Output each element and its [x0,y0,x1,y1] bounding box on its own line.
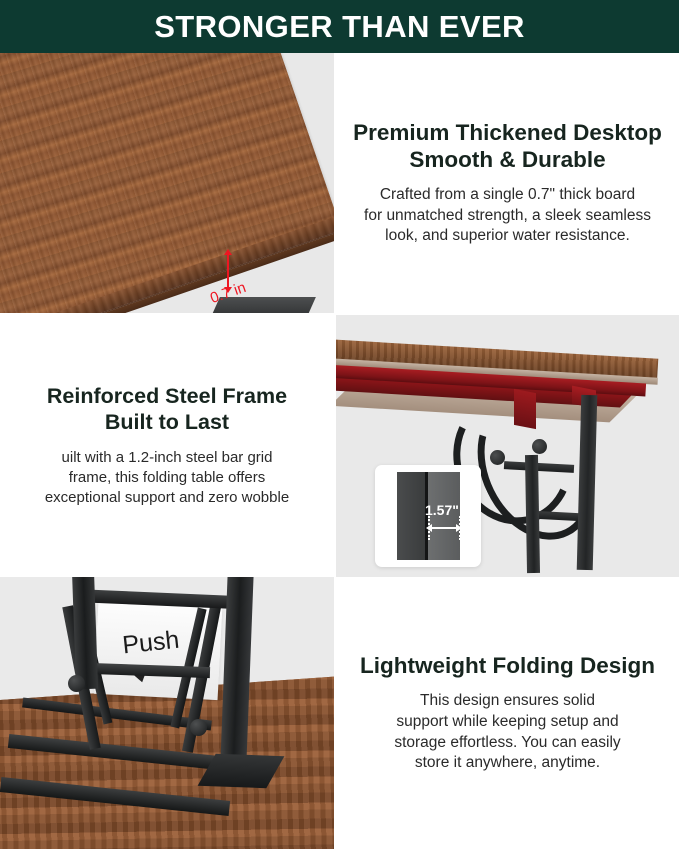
premium-desktop-heading: Premium Thickened Desktop Smooth & Durab… [353,119,662,173]
header-banner: STRONGER THAN EVER [0,0,679,53]
banner-title: STRONGER THAN EVER [154,11,525,42]
hinge-knob-icon [68,675,85,692]
hinge-knob-icon-2 [190,719,207,736]
steel-frame-text-panel: Reinforced Steel Frame Built to Last uil… [0,315,334,577]
folding-design-heading: Lightweight Folding Design [360,652,655,679]
folding-design-body: This design ensures solid support while … [394,691,620,773]
steel-frame-underside-photo: 1.57" [336,315,679,577]
pivot-joint-icon-2 [532,439,547,454]
feature-row-folding-design: Push Lightweight Folding Design This des [0,577,679,849]
wood-slab-graphic [0,53,334,313]
feature-row-premium-desktop: 0.7 in Premium Thickened Desktop Smooth … [0,53,679,313]
infographic-page: STRONGER THAN EVER 0.7 in Premium Thicke… [0,0,679,849]
steel-bar-width-label: 1.57" [425,502,459,518]
premium-desktop-text-panel: Premium Thickened Desktop Smooth & Durab… [336,53,679,313]
steel-bar-measurement-inset: 1.57" [375,465,481,567]
steel-frame-heading: Reinforced Steel Frame Built to Last [47,384,287,436]
folding-design-text-panel: Lightweight Folding Design This design e… [336,577,679,849]
width-dimension-arrow [431,527,457,529]
premium-desktop-body: Crafted from a single 0.7" thick board f… [364,185,651,247]
feature-row-steel-frame: Reinforced Steel Frame Built to Last uil… [0,315,679,577]
wood-desktop-corner-photo: 0.7 in [0,53,334,313]
folding-mechanism-photo: Push [0,577,334,849]
steel-leg-post [577,395,598,570]
pivot-joint-icon [490,450,505,465]
push-callout-text: Push [121,626,181,661]
steel-frame-body: uilt with a 1.2-inch steel bar grid fram… [45,448,289,508]
